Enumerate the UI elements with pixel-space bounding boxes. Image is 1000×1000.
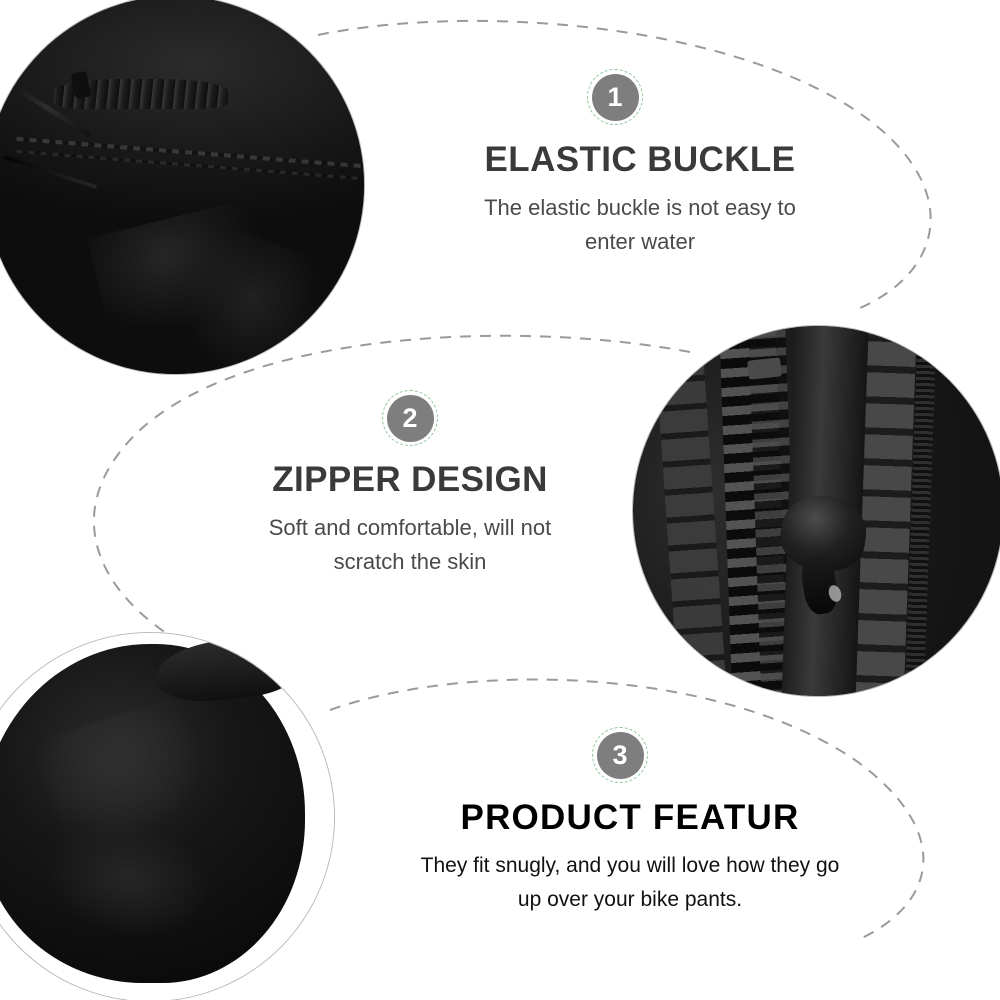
- step-number-3: 3: [597, 732, 644, 779]
- step-badge-2: 2: [382, 390, 438, 446]
- photo-elastic-buckle: [0, 0, 365, 375]
- section-3-heading: PRODUCT FEATUR: [370, 798, 890, 838]
- section-1-body: The elastic buckle is not easy to enter …: [380, 191, 900, 259]
- photo-zipper-design: [632, 325, 1000, 697]
- step-badge-1: 1: [587, 69, 643, 125]
- step-number-2: 2: [387, 395, 434, 442]
- photo-product-feature: [0, 632, 335, 1000]
- section-3-body: They fit snugly, and you will love how t…: [370, 849, 890, 916]
- section-3-text: PRODUCT FEATUR They fit snugly, and you …: [370, 798, 890, 916]
- step-badge-3: 3: [592, 727, 648, 783]
- section-2-heading: ZIPPER DESIGN: [150, 460, 670, 500]
- infographic-page: 1 ELASTIC BUCKLE The elastic buckle is n…: [0, 0, 1000, 1000]
- zipper-top-stop: [747, 358, 782, 380]
- section-2-body: Soft and comfortable, will not scratch t…: [150, 511, 670, 579]
- section-1-heading: ELASTIC BUCKLE: [380, 140, 900, 180]
- section-1-text: ELASTIC BUCKLE The elastic buckle is not…: [380, 140, 900, 259]
- section-2-text: ZIPPER DESIGN Soft and comfortable, will…: [150, 460, 670, 579]
- step-number-1: 1: [592, 74, 639, 121]
